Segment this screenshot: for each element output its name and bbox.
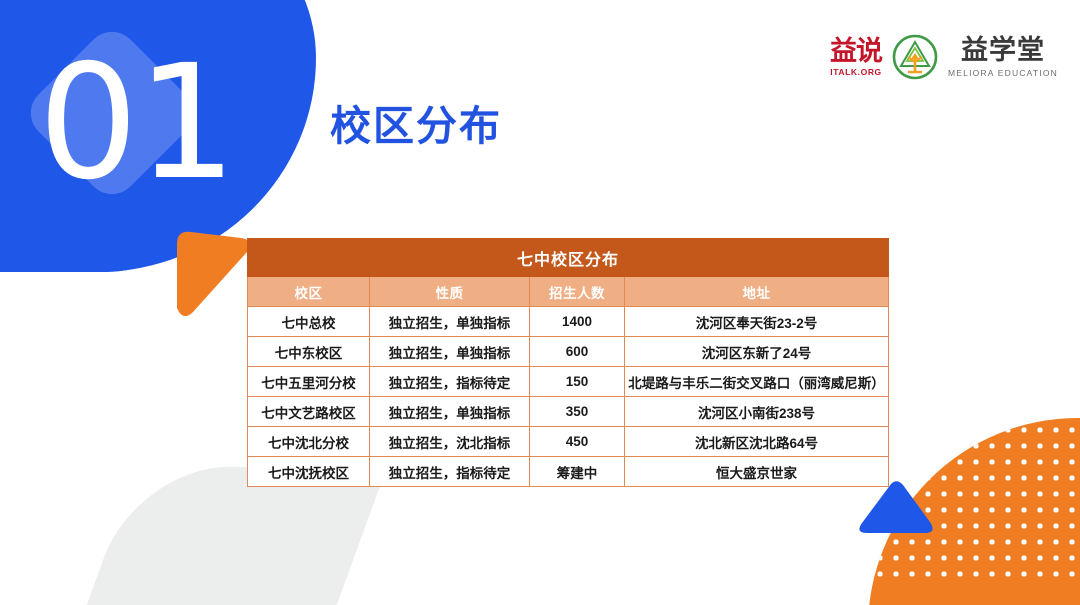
- cell-nature: 独立招生，沈北指标: [370, 427, 530, 457]
- table-row: 七中总校 独立招生，单独指标 1400 沈河区奉天街23-2号: [248, 307, 889, 337]
- cell-nature: 独立招生，单独指标: [370, 307, 530, 337]
- orange-dotted-circle: [868, 418, 1080, 605]
- table-row: 七中五里河分校 独立招生，指标待定 150 北堤路与丰乐二街交叉路口（丽湾威尼斯…: [248, 367, 889, 397]
- cell-campus: 七中五里河分校: [248, 367, 370, 397]
- cell-campus: 七中沈北分校: [248, 427, 370, 457]
- dot-pattern: [868, 418, 1080, 578]
- slide-canvas: 01 校区分布 益说 ITALK.ORG: [0, 0, 1080, 605]
- cell-nature: 独立招生，指标待定: [370, 457, 530, 487]
- logo-lockup: 益说 ITALK.ORG 益学堂 MELIORA EDUCATION: [830, 28, 1058, 86]
- cell-address: 恒大盛京世家: [625, 457, 889, 487]
- section-number: 01: [38, 38, 248, 208]
- cell-address: 沈河区奉天街23-2号: [625, 307, 889, 337]
- column-header-enrollment: 招生人数: [530, 277, 625, 307]
- cell-address: 沈河区东新了24号: [625, 337, 889, 367]
- cell-nature: 独立招生，指标待定: [370, 367, 530, 397]
- column-header-campus: 校区: [248, 277, 370, 307]
- table-row: 七中文艺路校区 独立招生，单独指标 350 沈河区小南街238号: [248, 397, 889, 427]
- campus-table-container: 七中校区分布 校区 性质 招生人数 地址 七中总校 独立招生，单独指标 1400…: [247, 238, 888, 487]
- cell-campus: 七中沈抚校区: [248, 457, 370, 487]
- cell-nature: 独立招生，单独指标: [370, 397, 530, 427]
- cell-address: 北堤路与丰乐二街交叉路口（丽湾威尼斯）: [625, 367, 889, 397]
- table-caption: 七中校区分布: [248, 239, 889, 277]
- blue-rounded-triangle-icon: [855, 478, 935, 538]
- cell-enrollment: 450: [530, 427, 625, 457]
- page-title: 校区分布: [330, 92, 502, 152]
- cell-campus: 七中东校区: [248, 337, 370, 367]
- cell-nature: 独立招生，单独指标: [370, 337, 530, 367]
- column-header-address: 地址: [625, 277, 889, 307]
- italk-logo: 益说 ITALK.ORG: [830, 37, 882, 78]
- italk-logo-cn: 益说: [830, 37, 882, 66]
- cell-address: 沈河区小南街238号: [625, 397, 889, 427]
- cell-address: 沈北新区沈北路64号: [625, 427, 889, 457]
- table-header-row: 校区 性质 招生人数 地址: [248, 277, 889, 307]
- cell-campus: 七中总校: [248, 307, 370, 337]
- grey-rounded-shape: [86, 467, 387, 605]
- meliora-logo: 益学堂 MELIORA EDUCATION: [948, 36, 1058, 79]
- cell-enrollment: 筹建中: [530, 457, 625, 487]
- italk-logo-en: ITALK.ORG: [830, 67, 882, 78]
- cell-enrollment: 600: [530, 337, 625, 367]
- cell-campus: 七中文艺路校区: [248, 397, 370, 427]
- table-caption-row: 七中校区分布: [248, 239, 889, 277]
- meliora-logo-cn: 益学堂: [961, 36, 1045, 66]
- cell-enrollment: 350: [530, 397, 625, 427]
- cell-enrollment: 150: [530, 367, 625, 397]
- column-header-nature: 性质: [370, 277, 530, 307]
- tree-in-circle-icon: [891, 33, 939, 81]
- campus-table: 七中校区分布 校区 性质 招生人数 地址 七中总校 独立招生，单独指标 1400…: [247, 238, 889, 487]
- table-body: 七中总校 独立招生，单独指标 1400 沈河区奉天街23-2号 七中东校区 独立…: [248, 307, 889, 487]
- meliora-logo-en: MELIORA EDUCATION: [948, 68, 1058, 79]
- cell-enrollment: 1400: [530, 307, 625, 337]
- table-row: 七中沈北分校 独立招生，沈北指标 450 沈北新区沈北路64号: [248, 427, 889, 457]
- table-row: 七中沈抚校区 独立招生，指标待定 筹建中 恒大盛京世家: [248, 457, 889, 487]
- table-row: 七中东校区 独立招生，单独指标 600 沈河区东新了24号: [248, 337, 889, 367]
- orange-rounded-triangle-icon: [163, 228, 255, 320]
